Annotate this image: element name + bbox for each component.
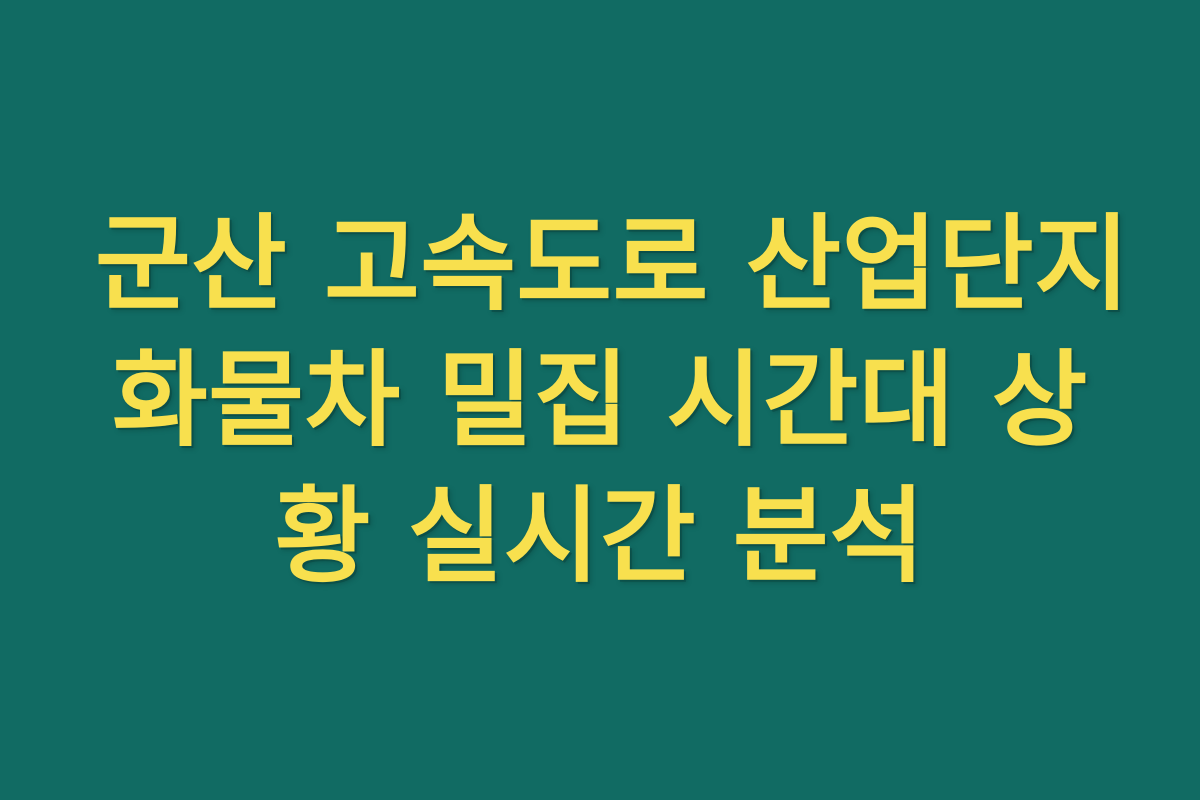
title-banner: 군산 고속도로 산업단지 화물차 밀집 시간대 상 황 실시간 분석 xyxy=(0,0,1200,800)
headline-line-2: 화물차 밀집 시간대 상 xyxy=(95,332,1105,468)
headline-block: 군산 고속도로 산업단지 화물차 밀집 시간대 상 황 실시간 분석 xyxy=(95,196,1105,605)
headline-line-1: 군산 고속도로 산업단지 xyxy=(95,196,1105,332)
headline-line-3: 황 실시간 분석 xyxy=(95,468,1105,604)
page-title: 군산 고속도로 산업단지 화물차 밀집 시간대 상 황 실시간 분석 xyxy=(95,196,1105,605)
